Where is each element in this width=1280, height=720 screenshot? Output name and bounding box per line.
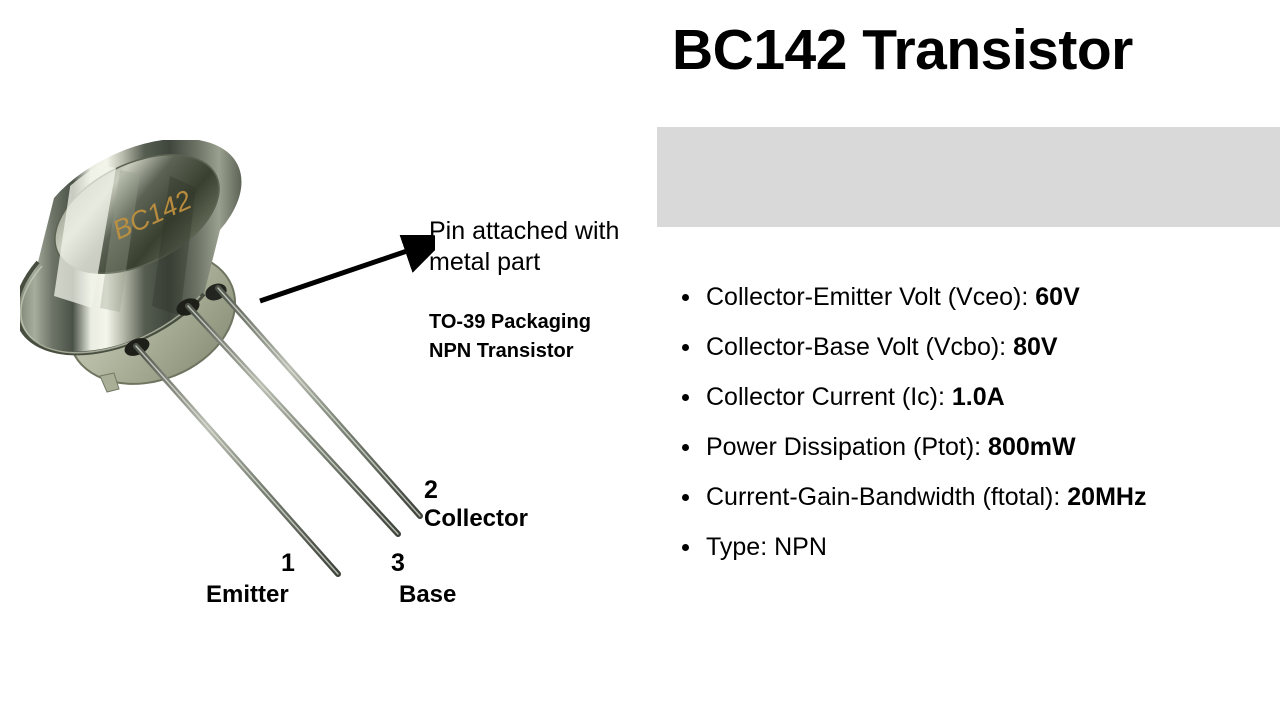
spec-label: Type: NPN: [706, 533, 827, 561]
spec-item: Current-Gain-Bandwidth (ftotal): 20MHz: [706, 472, 1280, 522]
page-root: BC142: [0, 0, 1280, 720]
pin-2-number: 2: [424, 476, 438, 505]
spec-label: Power Dissipation (Ptot):: [706, 433, 988, 461]
spec-value: 1.0A: [952, 383, 1005, 411]
callout-arrow: [250, 235, 435, 315]
spec-panel: BC142 Transistor Collector-Emitter Volt …: [640, 0, 1280, 720]
spec-value: 60V: [1035, 283, 1079, 311]
spec-label: Current-Gain-Bandwidth (ftotal):: [706, 483, 1067, 511]
pin-1-number: 1: [281, 549, 295, 578]
spec-value: 80V: [1013, 333, 1057, 361]
pin-1-label: Emitter: [206, 581, 289, 609]
title-band: [657, 127, 1280, 227]
package-note: TO-39 Packaging NPN Transistor: [429, 308, 639, 366]
pin-3-label: Base: [399, 581, 456, 609]
page-title: BC142 Transistor: [672, 10, 1133, 90]
spec-list: Collector-Emitter Volt (Vceo): 60V Colle…: [668, 272, 1280, 572]
pin-3-number: 3: [391, 549, 405, 578]
package-note-line2: NPN Transistor: [429, 340, 573, 362]
spec-item: Collector-Base Volt (Vcbo): 80V: [706, 322, 1280, 372]
spec-value: 20MHz: [1067, 483, 1146, 511]
transistor-photo-panel: BC142: [0, 0, 640, 720]
pin-2-label: Collector: [424, 505, 528, 533]
spec-label: Collector-Base Volt (Vcbo):: [706, 333, 1013, 361]
pin-attached-note: Pin attached with metal part: [429, 216, 644, 277]
spec-label: Collector Current (Ic):: [706, 383, 952, 411]
transistor-photo-image: BC142: [20, 140, 450, 600]
spec-item: Collector Current (Ic): 1.0A: [706, 372, 1280, 422]
spec-value: 800mW: [988, 433, 1076, 461]
package-note-line1: TO-39 Packaging: [429, 311, 591, 333]
spec-item: Power Dissipation (Ptot): 800mW: [706, 422, 1280, 472]
spec-item: Type: NPN: [706, 522, 1280, 572]
spec-item: Collector-Emitter Volt (Vceo): 60V: [706, 272, 1280, 322]
spec-label: Collector-Emitter Volt (Vceo):: [706, 283, 1035, 311]
